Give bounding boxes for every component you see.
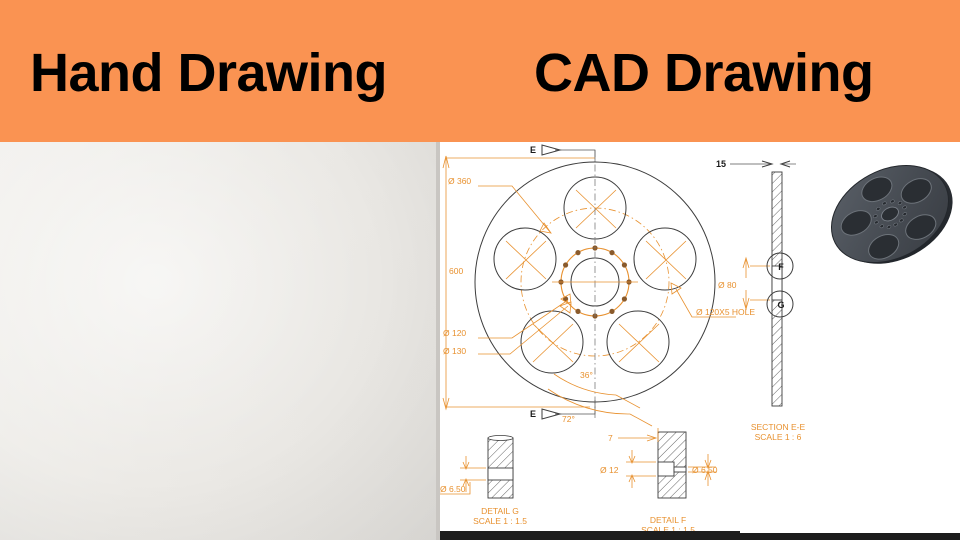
paper-background xyxy=(0,142,440,540)
page-title-hand-drawing: Hand Drawing xyxy=(30,46,387,100)
cad-label-detail-f-depth: 7 xyxy=(608,433,613,443)
cad-label-thickness-15: 15 xyxy=(716,159,726,169)
header-banner: Hand Drawing CAD Drawing xyxy=(0,0,960,142)
cad-label-dia-130: Ø 130 xyxy=(443,346,466,356)
hand-drawing-panel: 600 ɸ 120 ɸ 120 ɸ 120 ɸ 120 ɸ 120 ɸ 120 … xyxy=(0,142,440,540)
cad-label-detail-f-drill: Ø 6.50 xyxy=(692,465,718,475)
iso-render-svg xyxy=(820,142,960,292)
cad-label-angle-72: 72° xyxy=(562,414,575,424)
cad-label-angle-36: 36° xyxy=(580,370,593,380)
page-title-cad-drawing: CAD Drawing xyxy=(534,46,874,100)
cad-detail-f-title: DETAIL F xyxy=(650,515,686,525)
cad-footer-bar-right xyxy=(740,533,960,540)
iso-render-panel xyxy=(820,142,960,292)
cad-label-section-bore: Ø 80 xyxy=(718,280,737,290)
cad-section-scale: SCALE 1 : 6 xyxy=(755,432,802,442)
cad-label-overall-600: 600 xyxy=(449,266,463,276)
cad-detail-bubble-f: F xyxy=(778,262,784,272)
cad-section-label-bottom: E xyxy=(530,409,536,419)
cad-detail-bubble-g: G xyxy=(777,300,784,310)
cad-label-detail-g-dim: Ø 6.50 xyxy=(440,484,466,494)
cad-detail-g-scale: SCALE 1 : 1.5 xyxy=(473,516,527,526)
cad-section-label-top: E xyxy=(530,145,536,155)
cad-label-detail-f-cbore: Ø 12 xyxy=(600,465,619,475)
cad-section-title: SECTION E-E xyxy=(751,422,806,432)
cad-label-dia-120: Ø 120 xyxy=(443,328,466,338)
cad-detail-g-title: DETAIL G xyxy=(481,506,519,516)
slide-root: Hand Drawing CAD Drawing xyxy=(0,0,960,540)
cad-label-dia-360: Ø 360 xyxy=(448,176,471,186)
cad-footer-bar xyxy=(440,531,740,540)
